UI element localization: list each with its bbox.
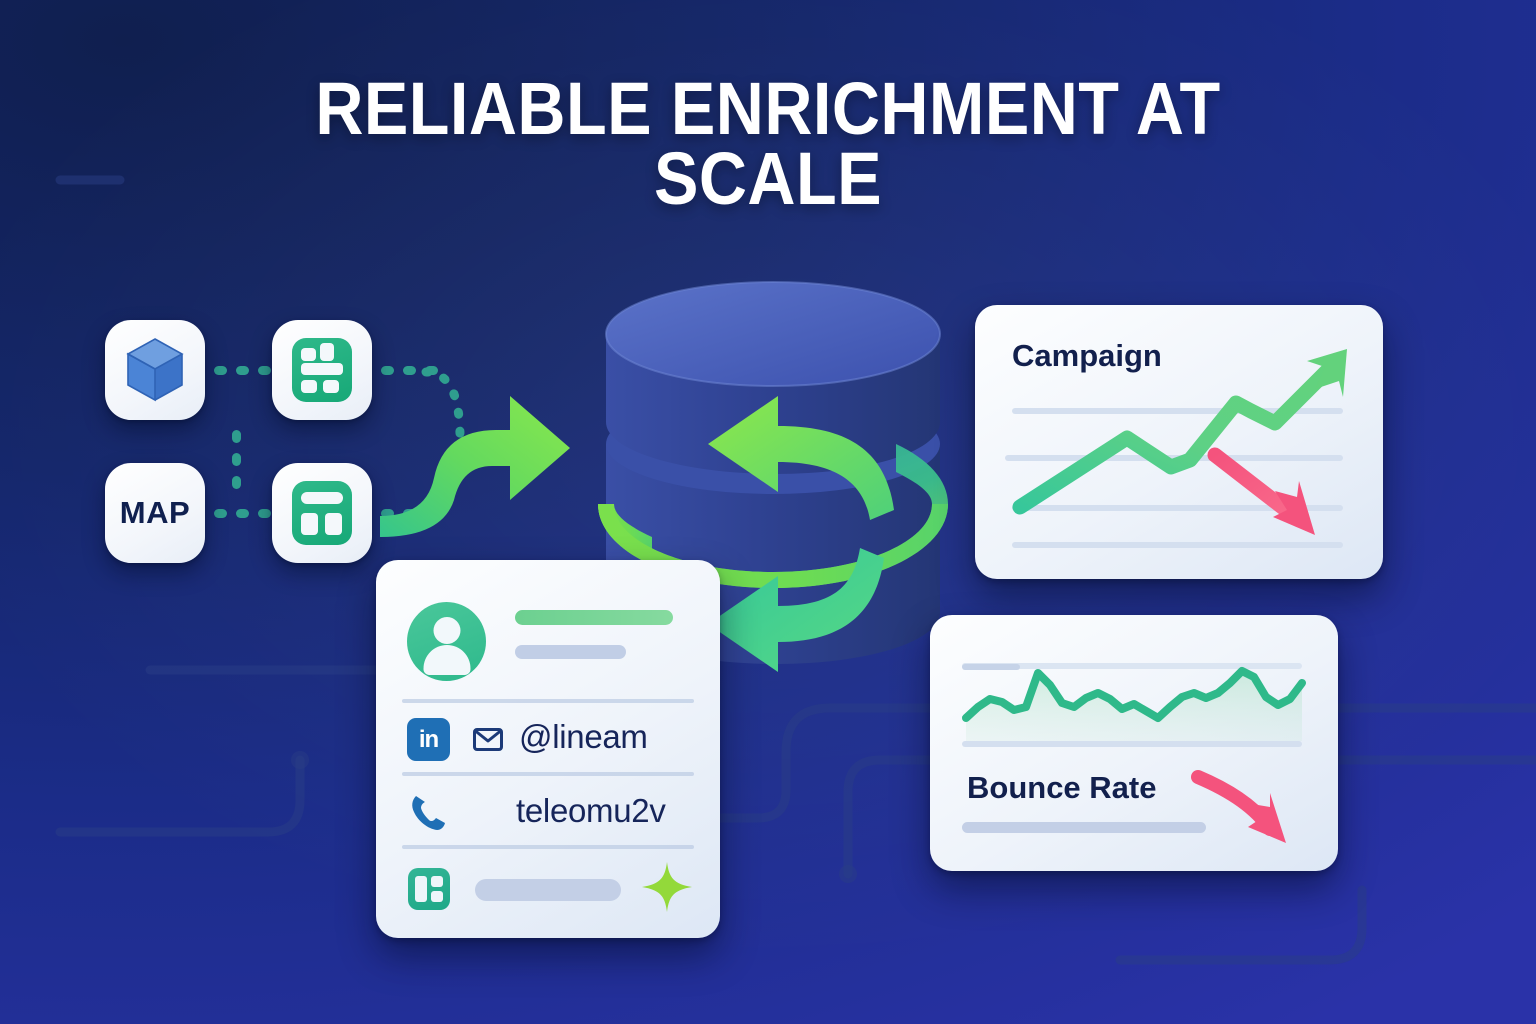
dotted-connector-vertical	[232, 430, 241, 489]
source-tile-map-label: MAP	[120, 495, 190, 531]
avatar	[407, 602, 486, 681]
cube-3d-icon	[124, 337, 186, 403]
campaign-card-title: Campaign	[1012, 338, 1162, 374]
avatar-body	[423, 645, 470, 675]
contact-subtitle-placeholder	[515, 645, 626, 659]
layout-panels-icon	[408, 868, 450, 910]
dot	[381, 366, 394, 375]
contact-name-placeholder	[515, 610, 673, 625]
linkedin-icon[interactable]: in	[407, 718, 450, 761]
bounce-card-title: Bounce Rate	[967, 770, 1156, 806]
bounce-rate-card[interactable]: Bounce Rate	[930, 615, 1338, 871]
contact-field-placeholder	[475, 879, 621, 901]
ingest-arrow	[374, 382, 586, 537]
source-tile-map[interactable]: MAP	[105, 463, 205, 563]
source-tile-layout[interactable]	[272, 463, 372, 563]
bounce-footer-bar	[962, 822, 1206, 833]
divider	[402, 772, 694, 776]
dot	[232, 476, 241, 489]
contact-email-handle: @lineam	[519, 718, 648, 756]
grid-blocks-icon	[292, 338, 352, 402]
contact-phone: teleomu2v	[516, 792, 666, 830]
dot	[236, 509, 249, 518]
dot	[258, 366, 271, 375]
phone-icon	[409, 793, 447, 833]
illustration-canvas: RELIABLE ENRICHMENT AT SCALE	[0, 0, 1536, 1024]
layout-panels-icon	[292, 481, 352, 545]
envelope-icon	[473, 728, 503, 751]
dot	[403, 366, 416, 375]
dot	[232, 430, 241, 443]
linkedin-glyph: in	[419, 726, 438, 754]
avatar-head	[433, 617, 460, 644]
campaign-metric-card[interactable]: Campaign	[975, 305, 1383, 579]
dot	[258, 509, 271, 518]
divider	[402, 845, 694, 849]
enriched-contact-card[interactable]: in @lineam teleomu2v	[376, 560, 720, 938]
dot	[236, 366, 249, 375]
source-tile-cube[interactable]	[105, 320, 205, 420]
dot	[214, 509, 227, 518]
page-title: RELIABLE ENRICHMENT AT SCALE	[77, 74, 1459, 215]
source-tile-grid[interactable]	[272, 320, 372, 420]
dot	[232, 453, 241, 466]
divider	[402, 699, 694, 703]
sparkle-icon	[640, 860, 694, 914]
dot	[214, 366, 227, 375]
